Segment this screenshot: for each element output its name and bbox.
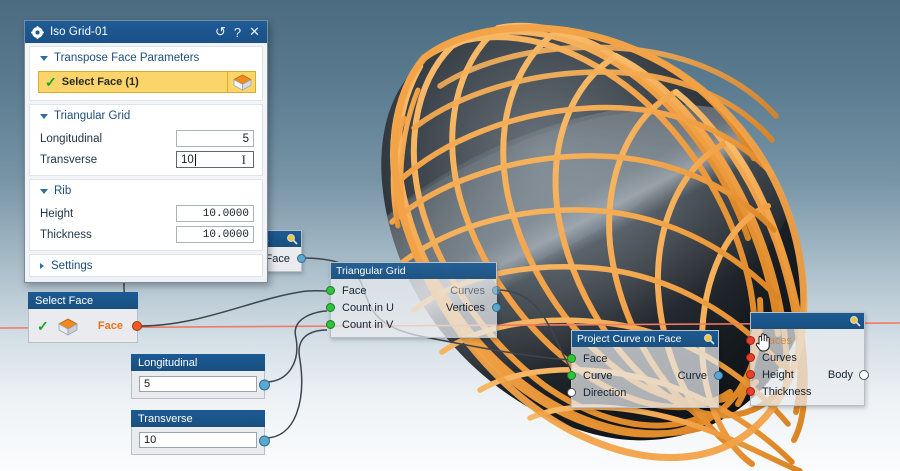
node-body-select-face[interactable]: ✓ Face — [28, 309, 138, 343]
port-label-direction-in: Direction — [583, 387, 626, 399]
select-face-cube-button[interactable] — [228, 71, 256, 93]
port-row-face-out[interactable]: Face — [266, 250, 301, 267]
node-title-select-face[interactable]: Select Face — [28, 292, 138, 309]
cube-icon — [233, 74, 251, 90]
input-height[interactable]: 10.0000 — [176, 205, 254, 222]
longitudinal-input[interactable]: 5 — [139, 376, 257, 392]
section-label-settings: Settings — [51, 260, 93, 272]
port-face-output[interactable] — [132, 321, 142, 331]
node-title-longitudinal[interactable]: Longitudinal — [131, 354, 265, 371]
row-transverse: Transverse 10 I — [40, 150, 254, 169]
port-dot-curve-in[interactable] — [567, 371, 576, 380]
reset-button[interactable]: ↺ — [212, 23, 229, 41]
port-row-count-v[interactable]: Count in V — [331, 316, 496, 333]
port-label-face-in: Face — [342, 285, 366, 297]
port-transverse-output[interactable] — [259, 435, 270, 446]
input-thickness[interactable]: 10.0000 — [176, 226, 254, 243]
section-label-transpose: Transpose Face Parameters — [54, 52, 199, 64]
port-row-curves-out[interactable]: Curves — [450, 282, 496, 299]
node-transverse[interactable]: Transverse 10 — [131, 410, 265, 455]
select-face-band[interactable]: ✓ Select Face (1) — [38, 71, 228, 93]
port-row-vertices-out[interactable]: Vertices — [446, 299, 496, 316]
port-row-curve-out[interactable]: Curve — [678, 367, 718, 384]
port-dot-body-out[interactable] — [859, 370, 869, 380]
chevron-down-icon[interactable] — [40, 56, 48, 61]
port-dot-face-out[interactable] — [297, 254, 306, 263]
iso-grid-dialog[interactable]: Iso Grid-01 ↺ ? ✕ Transpose Face Paramet… — [24, 20, 268, 283]
node-body-project-curve: Face Curve Direction Curve — [572, 347, 718, 407]
text-caret — [195, 154, 196, 166]
row-longitudinal: Longitudinal 5 — [40, 129, 254, 148]
port-label-face-in: Face — [583, 353, 607, 365]
chevron-down-icon[interactable] — [40, 189, 48, 194]
node-body-triangular-grid: Face Count in U Count in V Curves Vertic… — [331, 279, 496, 337]
chevron-down-icon[interactable] — [40, 114, 48, 119]
port-dot-curves-out[interactable] — [492, 286, 501, 295]
section-triangular-grid: Triangular Grid Longitudinal 5 Transvers… — [29, 104, 263, 176]
port-label-face-out: Face — [266, 253, 290, 265]
gear-icon — [31, 26, 44, 39]
port-row-faces-in[interactable]: Faces — [751, 332, 864, 349]
dialog-title-bar[interactable]: Iso Grid-01 ↺ ? ✕ — [25, 21, 267, 43]
port-row-direction-in[interactable]: Direction — [572, 384, 718, 401]
port-dot-curve-out[interactable] — [714, 371, 723, 380]
magnifier-icon[interactable] — [286, 233, 298, 245]
magnifier-icon[interactable] — [849, 315, 861, 327]
node-title-triangular-grid[interactable]: Triangular Grid — [331, 263, 496, 279]
port-dot-face-in[interactable] — [567, 354, 576, 363]
label-thickness: Thickness — [40, 229, 176, 241]
node-body-rib: Faces Curves Height Thickness Body — [751, 329, 864, 405]
port-label-curve-out: Curve — [678, 370, 707, 382]
port-label-vertices-out: Vertices — [446, 302, 485, 314]
node-rib[interactable]: Faces Curves Height Thickness Body — [750, 312, 865, 406]
cube-icon — [58, 318, 76, 334]
port-dot-curves-in[interactable] — [746, 353, 755, 362]
port-dot-vertices-out[interactable] — [492, 303, 501, 312]
port-label-count-u: Count in U — [342, 302, 394, 314]
section-rib: Rib Height 10.0000 Thickness 10.0000 — [29, 179, 263, 251]
check-icon: ✓ — [37, 319, 49, 333]
port-label-height-in: Height — [762, 369, 794, 381]
port-dot-count-u[interactable] — [326, 303, 335, 312]
node-body-transverse: 10 — [131, 427, 265, 455]
port-label-curves-in: Curves — [762, 352, 797, 364]
input-longitudinal[interactable]: 5 — [176, 130, 254, 147]
section-header-transpose[interactable]: Transpose Face Parameters — [30, 47, 262, 68]
port-label-face-out: Face — [98, 320, 123, 332]
node-title-transverse[interactable]: Transverse — [131, 410, 265, 427]
port-dot-direction-in[interactable] — [567, 388, 576, 397]
port-label-curves-out: Curves — [450, 285, 485, 297]
port-row-body-out[interactable]: Body — [828, 366, 864, 383]
section-transpose-face-parameters: Transpose Face Parameters ✓ Select Face … — [29, 46, 263, 101]
node-select-face[interactable]: Select Face ✓ Face — [28, 292, 138, 343]
port-dot-height-in[interactable] — [746, 370, 755, 379]
node-project-curve-on-face[interactable]: Project Curve on Face Face Curve — [571, 330, 719, 408]
port-label-body-out: Body — [828, 369, 853, 381]
port-label-thickness-in: Thickness — [762, 386, 812, 398]
label-longitudinal: Longitudinal — [40, 133, 176, 145]
node-title-project-curve[interactable]: Project Curve on Face — [572, 331, 718, 347]
port-row-thickness-in[interactable]: Thickness — [751, 383, 864, 400]
input-transverse-value: 10 — [181, 154, 194, 166]
close-button[interactable]: ✕ — [246, 23, 263, 41]
dialog-title: Iso Grid-01 — [50, 26, 212, 38]
node-body-longitudinal: 5 — [131, 371, 265, 399]
text-cursor-icon: I — [242, 152, 246, 168]
port-longitudinal-output[interactable] — [259, 379, 270, 390]
magnifier-icon[interactable] — [703, 333, 715, 345]
port-row-face-in[interactable]: Face — [572, 350, 718, 367]
port-dot-face-in[interactable] — [326, 286, 335, 295]
section-header-settings[interactable]: Settings — [30, 255, 262, 276]
row-height: Height 10.0000 — [40, 204, 254, 223]
section-header-triangular-grid[interactable]: Triangular Grid — [30, 105, 262, 126]
port-dot-thickness-in[interactable] — [746, 387, 755, 396]
section-settings: Settings — [29, 254, 263, 277]
select-face-row[interactable]: ✓ Select Face (1) — [38, 71, 256, 93]
section-label-rib: Rib — [54, 185, 71, 197]
section-label-triangular-grid: Triangular Grid — [54, 110, 130, 122]
select-face-label: Select Face (1) — [62, 76, 139, 88]
label-height: Height — [40, 208, 176, 220]
node-longitudinal[interactable]: Longitudinal 5 — [131, 354, 265, 399]
port-dot-count-v[interactable] — [326, 320, 335, 329]
node-triangular-grid[interactable]: Triangular Grid Face Count in U Count in… — [330, 262, 497, 338]
port-label-faces-in: Faces — [762, 335, 792, 347]
application-window: Select Face ✓ Face Transpose Face Parame… — [0, 0, 900, 471]
chevron-right-icon[interactable] — [40, 263, 44, 269]
port-label-curve-in: Curve — [583, 370, 612, 382]
node-title-rib[interactable] — [751, 313, 864, 329]
row-thickness: Thickness 10.0000 — [40, 225, 254, 244]
label-transverse: Transverse — [40, 154, 176, 166]
port-label-count-v: Count in V — [342, 319, 393, 331]
check-icon: ✓ — [45, 75, 57, 89]
port-row-curves-in[interactable]: Curves — [751, 349, 864, 366]
help-button[interactable]: ? — [229, 23, 246, 41]
section-header-rib[interactable]: Rib — [30, 180, 262, 201]
port-dot-faces-in[interactable] — [746, 336, 755, 345]
transverse-input[interactable]: 10 — [139, 432, 257, 448]
dialog-body: Transpose Face Parameters ✓ Select Face … — [25, 46, 267, 277]
